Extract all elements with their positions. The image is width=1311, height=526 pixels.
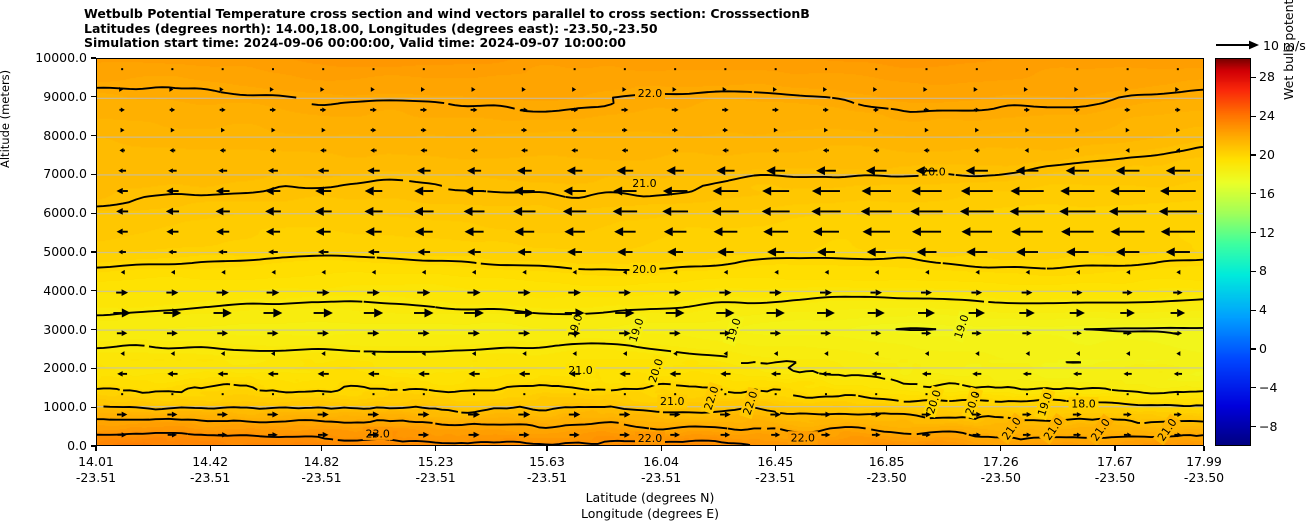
contour-label: 22.0: [635, 432, 665, 445]
wind-vector: [564, 227, 584, 236]
wind-vector: [368, 249, 379, 255]
wind-vector: [471, 128, 477, 133]
contour-label: 21.0: [566, 364, 596, 377]
wind-vector: [522, 270, 526, 275]
wind-vector: [1174, 371, 1182, 376]
wind-vector: [118, 168, 126, 173]
wind-vector: [823, 148, 829, 153]
wind-vector: [974, 107, 980, 112]
wind-vector: [825, 68, 827, 70]
wind-vector: [1072, 290, 1082, 296]
wind-vector: [118, 250, 126, 255]
wind-vector: [724, 351, 728, 356]
wind-vector: [166, 208, 179, 215]
wind-vector: [320, 87, 324, 92]
contour-line: [891, 379, 918, 384]
contour-line: [565, 174, 954, 198]
wind-vector: [522, 87, 526, 92]
plot-area[interactable]: 22.021.020.020.019.019.019.019.021.020.0…: [96, 58, 1204, 446]
wind-vector: [118, 432, 127, 437]
wind-vector: [518, 289, 531, 296]
wind-vector: [472, 351, 476, 356]
wind-vector: [868, 308, 885, 317]
x-tick-mark: [546, 446, 547, 451]
contour-line: [364, 343, 631, 352]
wind-vector: [1061, 227, 1094, 236]
wind-vector: [712, 186, 738, 195]
contour-line: [97, 388, 120, 389]
wind-vector: [420, 107, 427, 112]
wind-vector: [417, 248, 430, 255]
colorbar-tick-label: −8: [1259, 419, 1277, 434]
wind-vector: [976, 68, 978, 70]
wind-vector: [373, 68, 375, 70]
wind-vector: [960, 207, 994, 216]
wind-vector: [1016, 247, 1038, 256]
wind-vector: [622, 148, 628, 153]
wind-vector: [317, 289, 330, 296]
contour-label: 21.0: [657, 395, 687, 408]
wind-vector: [421, 87, 425, 92]
x-tick-mark: [886, 446, 887, 451]
contour-line: [429, 385, 590, 392]
x-tick-label-longitude: -23.50: [1070, 470, 1160, 485]
wind-vector: [771, 371, 781, 376]
wind-vector: [368, 330, 380, 336]
wind-vector: [673, 87, 677, 92]
wind-vector: [723, 128, 728, 133]
wind-vector: [171, 393, 173, 395]
svg-text:19.0: 19.0: [952, 313, 972, 340]
wind-vector: [821, 432, 830, 437]
wind-vector: [1026, 393, 1028, 395]
wind-vector: [616, 166, 633, 175]
wind-vector: [117, 371, 127, 377]
y-tick-label: 9000.0: [0, 89, 87, 104]
y-tick-label: 2000.0: [0, 360, 87, 375]
wind-vector: [1126, 128, 1130, 133]
contour-line: [793, 395, 856, 398]
wind-vector: [918, 308, 935, 317]
wind-vector: [368, 371, 379, 377]
wind-vector: [268, 371, 278, 377]
wind-vector: [168, 168, 176, 173]
wind-vector: [1110, 186, 1145, 195]
contour-line: [832, 98, 854, 103]
wind-vector: [322, 393, 324, 395]
wind-vector: [423, 68, 425, 70]
wind-vector: [574, 393, 576, 395]
x-tick-mark: [321, 446, 322, 451]
x-tick-label-longitude: -23.51: [391, 470, 481, 485]
contour-line: [1112, 390, 1203, 393]
wind-vector: [469, 432, 480, 438]
wind-vector: [613, 207, 637, 216]
wind-vector: [875, 270, 879, 275]
wind-vector: [320, 148, 326, 153]
contour-line: [741, 362, 755, 363]
wind-vector: [171, 270, 175, 275]
wind-vector: [1022, 412, 1031, 417]
y-tick-label: 8000.0: [0, 128, 87, 143]
colorbar-tick-label: 0: [1259, 341, 1267, 356]
x-tick-label-latitude: 14.42: [165, 454, 255, 469]
wind-vector: [119, 107, 124, 112]
wind-vector: [472, 87, 476, 92]
wind-vector: [1116, 166, 1140, 175]
colorbar-tick-mark: [1251, 116, 1256, 117]
figure-root: Wetbulb Potential Temperature cross sect…: [0, 0, 1311, 526]
contour-line: [761, 361, 797, 364]
contour-label: 19.0: [1034, 388, 1056, 420]
wind-vector: [217, 330, 228, 336]
wind-vector: [1166, 166, 1190, 175]
wind-vector: [513, 207, 535, 216]
y-tick-label: 5000.0: [0, 244, 87, 259]
arrow-right-icon: [1215, 36, 1261, 54]
wind-vector: [121, 68, 123, 70]
y-tick-label: 10000.0: [0, 50, 87, 65]
wind-vector: [215, 207, 229, 215]
x-tick-label-longitude: -23.51: [502, 470, 592, 485]
contour-line: [260, 386, 390, 393]
wind-vector: [966, 247, 987, 256]
wind-vector: [866, 166, 887, 175]
wind-vector: [874, 128, 878, 133]
colorbar-tick-label: 24: [1259, 108, 1275, 123]
wind-vector: [473, 393, 475, 395]
wind-vector: [367, 289, 380, 296]
wind-vector: [871, 289, 882, 295]
wind-vector: [1175, 107, 1180, 112]
wind-vector: [1073, 371, 1082, 376]
wind-vector: [1076, 393, 1078, 395]
wind-vector: [567, 166, 583, 175]
wind-vector: [670, 432, 680, 437]
svg-text:20.0: 20.0: [963, 389, 983, 416]
wind-vector: [966, 166, 988, 175]
wind-vector: [1125, 87, 1129, 92]
wind-vector: [1176, 128, 1180, 133]
wind-vector: [321, 270, 325, 275]
wind-vector: [563, 186, 585, 195]
wind-vector: [1171, 309, 1186, 317]
contour-line: [650, 426, 727, 429]
title-line-3: Simulation start time: 2024-09-06 00:00:…: [84, 36, 1084, 51]
wind-vector: [770, 289, 782, 296]
wind-vector: [911, 186, 941, 195]
colorbar-tick-mark: [1251, 271, 1256, 272]
wind-vector: [662, 207, 688, 216]
wind-vector: [568, 289, 581, 296]
wind-vector: [1075, 107, 1081, 112]
wind-vector: [716, 166, 734, 175]
svg-text:22.0: 22.0: [741, 389, 761, 416]
wind-vector: [473, 68, 475, 70]
svg-text:22.0: 22.0: [638, 87, 662, 100]
wind-vector: [1075, 148, 1079, 153]
wind-vector: [910, 207, 942, 216]
wind-vector: [767, 247, 784, 256]
wind-vector: [1011, 227, 1042, 236]
y-tick-label: 3000.0: [0, 322, 87, 337]
wind-vector: [423, 393, 425, 395]
wind-vector: [1066, 166, 1089, 175]
contour-line: [97, 180, 403, 207]
wind-vector: [672, 128, 678, 133]
contour-line: [448, 104, 514, 109]
contour-line: [234, 385, 258, 390]
wind-vector: [367, 167, 379, 174]
wind-vector: [368, 411, 379, 417]
x-tick-mark: [210, 446, 211, 451]
contour-line: [624, 425, 649, 429]
wind-vector: [514, 227, 534, 236]
wind-vector: [974, 87, 978, 92]
wind-vector: [265, 187, 280, 195]
wind-vector: [318, 371, 329, 377]
wind-vector: [622, 128, 628, 133]
wind-vector: [1026, 270, 1030, 275]
contour-line: [754, 92, 830, 97]
wind-vector: [270, 87, 274, 92]
wind-vector: [1126, 270, 1130, 275]
wind-vector: [519, 330, 531, 336]
wind-vector: [1060, 186, 1094, 195]
wind-vector: [974, 148, 979, 153]
contour-line: [435, 422, 618, 428]
contour-label: 20.0: [923, 386, 945, 418]
wind-vector: [873, 87, 877, 92]
wind-vector: [221, 270, 225, 275]
wind-vector: [1109, 207, 1146, 216]
wind-vector: [523, 393, 525, 395]
contour-line: [97, 419, 433, 423]
wind-vector: [1076, 351, 1080, 356]
wind-vector: [1073, 331, 1082, 336]
svg-text:21.0: 21.0: [632, 177, 656, 190]
contour-label: 23.0: [363, 427, 393, 440]
wind-vector: [972, 371, 981, 376]
contour-line: [409, 181, 442, 186]
wind-vector: [1120, 309, 1135, 317]
x-tick-label-latitude: 17.99: [1159, 454, 1249, 469]
wind-vector: [120, 351, 124, 356]
contour-line: [481, 264, 572, 269]
wind-vector: [975, 270, 979, 275]
wind-vector: [1174, 412, 1182, 417]
wind-vector: [263, 308, 282, 317]
wind-vector: [1175, 87, 1179, 92]
contour-label: 20.0: [629, 263, 659, 276]
wind-vector: [322, 128, 326, 133]
wind-vector: [619, 289, 631, 296]
wind-vector: [1023, 432, 1031, 437]
wind-vector: [1073, 412, 1082, 417]
wind-vector: [763, 227, 788, 236]
wind-vector: [168, 250, 176, 255]
wind-vector: [1010, 207, 1045, 216]
x-tick-label-latitude: 15.63: [502, 454, 592, 469]
wind-vector: [861, 207, 892, 216]
wind-vector: [418, 330, 430, 336]
contour-line: [435, 307, 530, 312]
wind-vector: [519, 371, 530, 377]
contour-line: [377, 258, 477, 263]
wind-vector: [925, 270, 929, 275]
contour-label: 19.0: [723, 314, 745, 346]
wind-vector: [1070, 309, 1085, 317]
x-tick-label-latitude: 16.85: [842, 454, 932, 469]
contour-line: [221, 92, 297, 97]
wind-vector: [624, 68, 626, 70]
wind-vector: [623, 351, 627, 356]
x-tick-label-longitude: -23.51: [730, 470, 820, 485]
wind-vector: [370, 148, 376, 153]
wind-vector: [418, 432, 429, 438]
x-tick-label-longitude: -23.51: [616, 470, 706, 485]
wind-vector: [770, 330, 781, 336]
wind-vector: [314, 308, 333, 317]
wind-vector: [971, 290, 982, 296]
wind-vector: [1010, 186, 1043, 195]
wind-vector: [167, 412, 177, 418]
contour-line: [364, 302, 435, 307]
wind-vector: [1123, 371, 1131, 376]
wind-vector: [218, 250, 227, 255]
wind-vector: [825, 393, 827, 395]
wind-vector: [521, 128, 527, 133]
wind-vector: [812, 186, 840, 195]
wind-vector: [472, 270, 476, 275]
wind-vector: [170, 107, 175, 112]
wind-vector: [371, 128, 377, 133]
wind-vector: [1074, 87, 1078, 92]
wind-vector: [171, 128, 175, 133]
wind-vector: [816, 166, 836, 175]
svg-text:20.0: 20.0: [921, 166, 945, 179]
wind-vector: [1177, 393, 1179, 395]
wind-vector: [720, 412, 731, 418]
wind-vector: [563, 207, 586, 216]
contour-line: [390, 440, 750, 445]
wind-vector: [871, 330, 881, 336]
wind-vector: [1076, 128, 1080, 133]
contour-line: [487, 191, 565, 196]
wind-vector: [622, 87, 626, 92]
contour-line: [312, 100, 444, 105]
wind-vector: [222, 68, 224, 70]
wind-vector: [521, 148, 527, 153]
wind-vector: [824, 128, 828, 133]
wind-vector: [464, 207, 485, 216]
wind-vector: [775, 393, 777, 395]
wind-vector: [418, 371, 429, 377]
wind-vector: [1026, 68, 1028, 70]
x-tick-label-latitude: 14.82: [276, 454, 366, 469]
svg-text:22.0: 22.0: [791, 432, 815, 445]
wind-vector: [267, 330, 278, 336]
wind-vector: [1123, 412, 1131, 417]
wind-vector: [415, 227, 433, 236]
wind-vector: [1127, 68, 1129, 70]
svg-text:22.0: 22.0: [638, 432, 662, 445]
wind-vector: [271, 351, 275, 356]
wind-vector: [863, 227, 890, 236]
x-tick-mark: [661, 446, 662, 451]
wind-vector: [975, 351, 979, 356]
title-line-2: Latitudes (degrees north): 14.00,18.00, …: [84, 22, 1084, 37]
wind-vector: [926, 393, 928, 395]
wind-vector: [925, 128, 929, 133]
wind-vector: [271, 128, 275, 133]
svg-text:21.0: 21.0: [660, 395, 684, 408]
wind-vector: [1125, 148, 1129, 153]
colorbar-tick-label: 16: [1259, 186, 1275, 201]
wind-vector: [774, 270, 778, 275]
wind-vector: [912, 227, 941, 236]
wind-vector: [414, 207, 434, 216]
x-tick-mark: [95, 446, 96, 451]
wind-vector: [1174, 331, 1183, 336]
wind-vector: [924, 148, 930, 153]
wind-vector: [1026, 351, 1030, 356]
wind-vector: [221, 351, 225, 356]
wind-vector: [1066, 247, 1089, 256]
contour-line: [611, 384, 671, 391]
wind-vector: [218, 371, 228, 377]
wind-vector: [218, 168, 227, 173]
wind-vector: [617, 248, 632, 257]
wind-vector: [673, 270, 677, 275]
colorbar-tick-label: 8: [1259, 263, 1267, 278]
wind-vector: [422, 270, 426, 275]
wind-vector: [821, 330, 831, 336]
contour-line: [663, 407, 776, 412]
wind-vector: [1123, 290, 1133, 296]
wind-vector: [620, 432, 630, 438]
wind-vector: [1022, 331, 1031, 336]
wind-vector: [216, 289, 228, 296]
wind-vector: [766, 166, 785, 175]
colorbar-tick-mark: [1251, 154, 1256, 155]
wind-vector: [674, 393, 676, 395]
wind-vector: [825, 270, 829, 275]
wind-vector: [1116, 247, 1140, 256]
wind-vector: [517, 167, 532, 175]
wind-vector: [464, 186, 484, 195]
wind-vector: [1076, 270, 1080, 275]
wind-vector: [322, 68, 324, 70]
wind-vector: [471, 148, 478, 153]
wind-vector: [1076, 68, 1078, 70]
colorbar-tick-mark: [1251, 348, 1256, 349]
x-tick-label-latitude: 16.45: [730, 454, 820, 469]
wind-vector: [471, 107, 478, 112]
y-tick-label: 4000.0: [0, 283, 87, 298]
wind-vector: [216, 228, 229, 235]
wind-vector: [922, 330, 932, 335]
contour-line: [923, 383, 959, 387]
wind-vector: [272, 68, 274, 70]
x-axis-label-longitude: Longitude (degrees E): [96, 506, 1204, 521]
wind-vector: [170, 148, 176, 153]
wind-vector: [267, 289, 280, 296]
svg-text:20.0: 20.0: [646, 357, 666, 384]
wind-vector: [773, 148, 779, 153]
wind-vector: [213, 308, 231, 317]
wind-vector: [926, 68, 928, 70]
